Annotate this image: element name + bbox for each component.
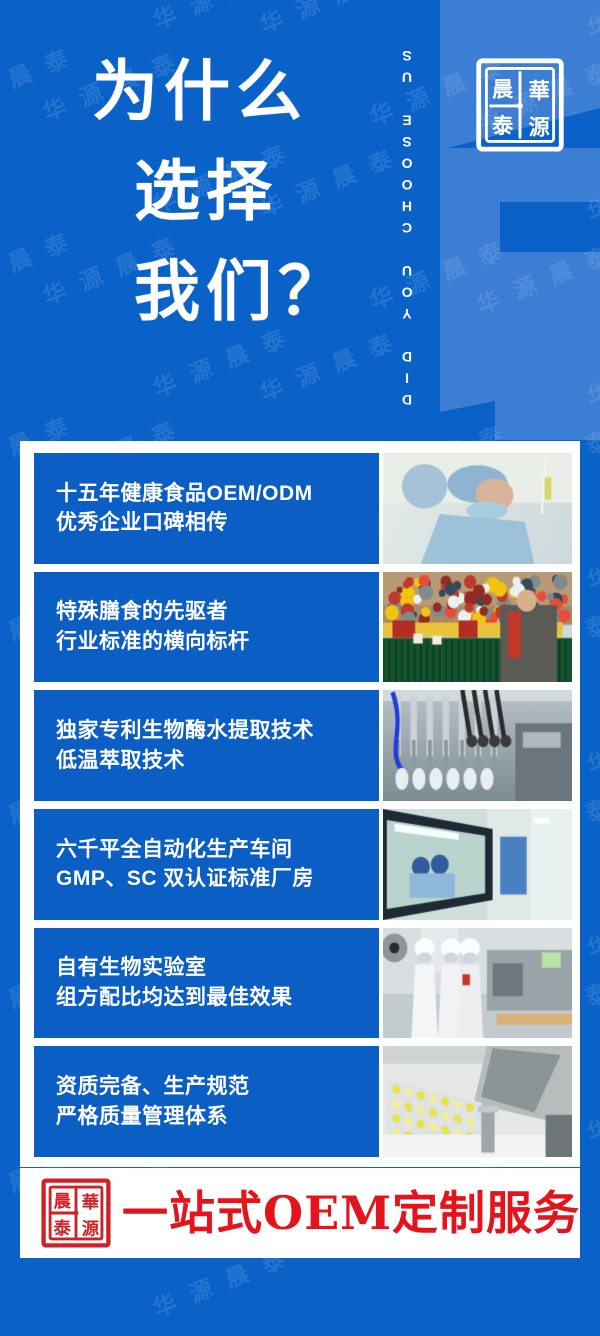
- feature-card: 十五年健康食品OEM/ODM优秀企业口碑相传: [34, 453, 572, 564]
- svg-text:源: 源: [529, 115, 550, 140]
- bottom-banner: 晨 華 泰 源 一站式OEM定制服务: [20, 1168, 580, 1258]
- feature-card-line: 组方配比均达到最佳效果: [56, 983, 379, 1013]
- title-line-3: 我们？: [134, 258, 350, 324]
- title-line-2: 选择: [134, 158, 350, 224]
- feature-card-list: 十五年健康食品OEM/ODM优秀企业口碑相传特殊膳食的先驱者行业标准的横向标杆独…: [34, 453, 572, 1157]
- poster-root: 华源晨泰 华源晨泰 华源晨泰 华源晨泰 华源晨泰 华源晨泰 华源晨泰 华源晨泰 …: [0, 0, 600, 1336]
- svg-text:華: 華: [82, 1193, 99, 1213]
- banner-slogan: 一站式OEM定制服务: [122, 1190, 580, 1236]
- feature-card-text-panel: 资质完备、生产规范严格质量管理体系: [34, 1046, 379, 1157]
- feature-card-line: 行业标准的横向标杆: [56, 627, 379, 657]
- feature-card-photo: [383, 928, 572, 1039]
- svg-text:晨: 晨: [492, 76, 514, 101]
- photo-workers-white-coats-packaging-line: [383, 928, 572, 1039]
- feature-card-photo: [383, 1046, 572, 1157]
- feature-card-photo: [383, 809, 572, 920]
- feature-card-text-panel: 独家专利生物酶水提取技术低温萃取技术: [34, 690, 379, 801]
- feature-card-photo: [383, 572, 572, 683]
- vertical-subtitle: DID YOU CHOOSE US: [399, 40, 423, 410]
- feature-card-line: 低温萃取技术: [56, 746, 379, 776]
- feature-card: 自有生物实验室组方配比均达到最佳效果: [34, 928, 572, 1039]
- features-frame: 十五年健康食品OEM/ODM优秀企业口碑相传特殊膳食的先驱者行业标准的横向标杆独…: [20, 441, 580, 1167]
- feature-card-line: 特殊膳食的先驱者: [56, 597, 379, 627]
- feature-card: 资质完备、生产规范严格质量管理体系: [34, 1046, 572, 1157]
- company-seal-red-icon: 晨 華 泰 源: [40, 1177, 112, 1249]
- feature-card-line: GMP、SC 双认证标准厂房: [56, 864, 379, 894]
- svg-text:晨: 晨: [54, 1192, 72, 1212]
- feature-card: 特殊膳食的先驱者行业标准的横向标杆: [34, 572, 572, 683]
- feature-card-line: 十五年健康食品OEM/ODM: [56, 479, 379, 509]
- title-line-1: 为什么: [92, 58, 350, 124]
- svg-text:源: 源: [82, 1219, 100, 1240]
- photo-bottling-filling-machine: [383, 690, 572, 801]
- feature-card-line: 独家专利生物酶水提取技术: [56, 716, 379, 746]
- photo-tablet-blister-packing-machine: [383, 1046, 572, 1157]
- feature-card-line: 六千平全自动化生产车间: [56, 835, 379, 865]
- feature-card-line: 资质完备、生产规范: [56, 1072, 379, 1102]
- feature-card-photo: [383, 690, 572, 801]
- feature-card-line: 自有生物实验室: [56, 953, 379, 983]
- poster-header: 为什么 选择 我们？ DID YOU CHOOSE US 晨 華 泰 源: [0, 0, 600, 440]
- feature-card-line: 严格质量管理体系: [56, 1102, 379, 1132]
- photo-clean-room-production-corridor: [383, 809, 572, 920]
- feature-card-text-panel: 特殊膳食的先驱者行业标准的横向标杆: [34, 572, 379, 683]
- feature-card: 独家专利生物酶水提取技术低温萃取技术: [34, 690, 572, 801]
- company-seal-white-icon: 晨 華 泰 源: [472, 52, 568, 156]
- photo-conference-audience-red-scarves: [383, 572, 572, 683]
- feature-card-text-panel: 十五年健康食品OEM/ODM优秀企业口碑相传: [34, 453, 379, 564]
- feature-card-line: 优秀企业口碑相传: [56, 508, 379, 538]
- photo-lab-technician-inspecting-vial: [383, 453, 572, 564]
- feature-card-text-panel: 自有生物实验室组方配比均达到最佳效果: [34, 928, 379, 1039]
- feature-card-photo: [383, 453, 572, 564]
- svg-text:泰: 泰: [54, 1218, 72, 1239]
- feature-card-text-panel: 六千平全自动化生产车间GMP、SC 双认证标准厂房: [34, 809, 379, 920]
- svg-text:華: 華: [529, 78, 550, 103]
- svg-text:泰: 泰: [492, 113, 514, 138]
- feature-card: 六千平全自动化生产车间GMP、SC 双认证标准厂房: [34, 809, 572, 920]
- page-title: 为什么 选择 我们？: [92, 58, 350, 324]
